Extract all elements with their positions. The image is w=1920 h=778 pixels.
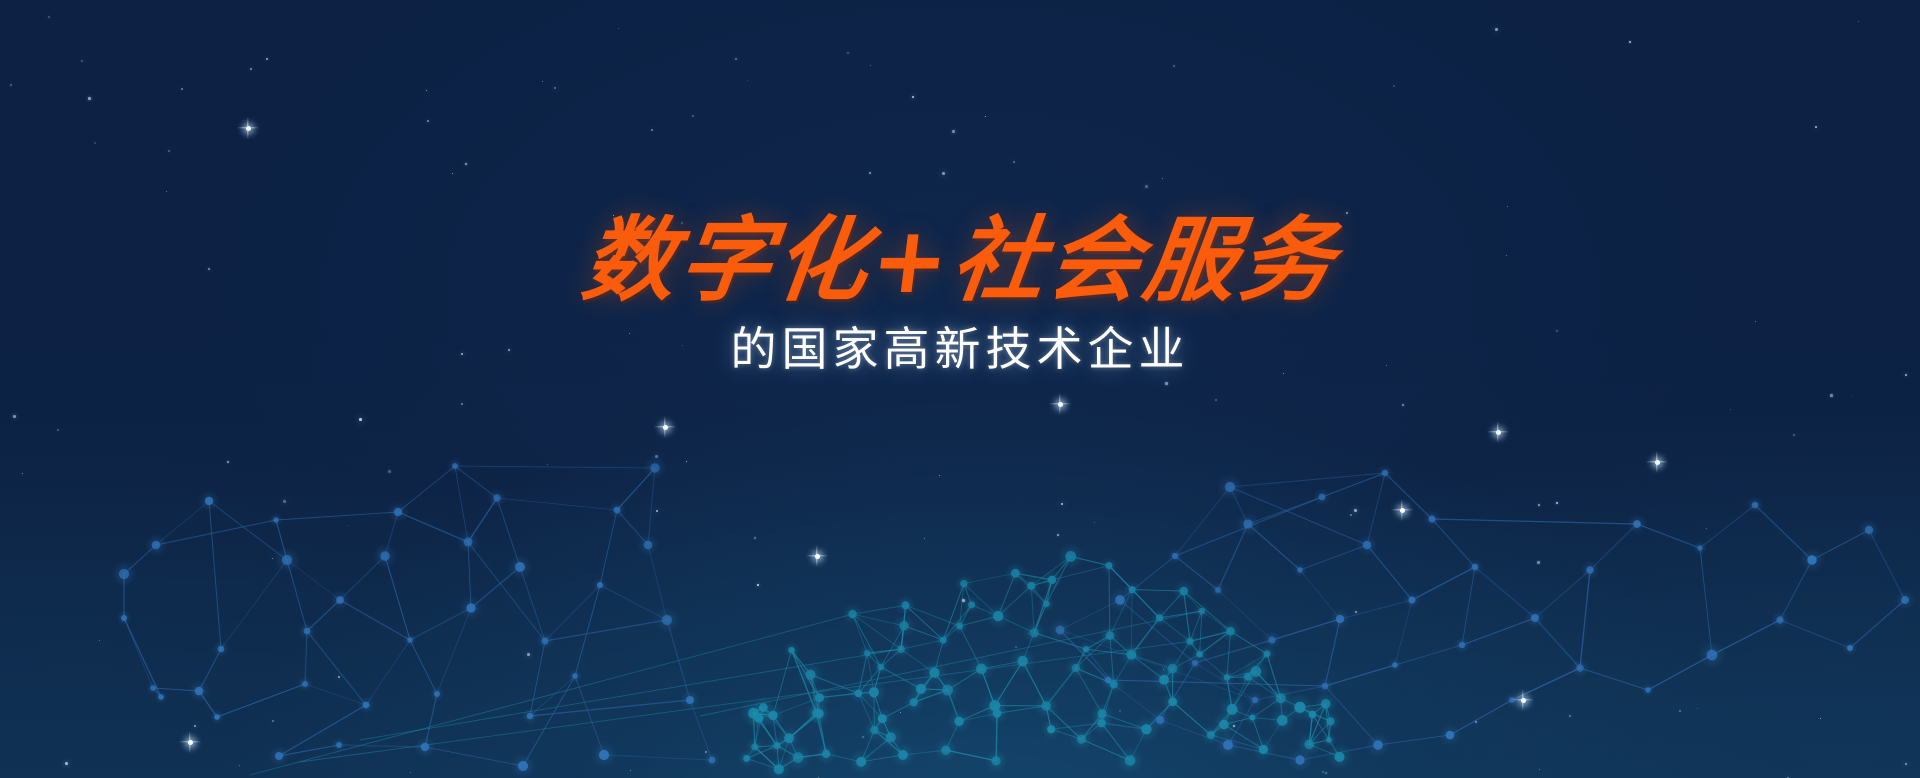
- network-node: [869, 687, 879, 697]
- network-node: [452, 463, 458, 469]
- network-edge: [1108, 680, 1325, 686]
- network-node: [1199, 608, 1206, 615]
- network-node: [960, 580, 967, 587]
- network-node: [421, 743, 430, 752]
- network-node: [1472, 564, 1479, 571]
- network-node: [1336, 615, 1344, 623]
- network-node: [1065, 551, 1076, 562]
- network-node: [886, 732, 896, 742]
- network-node: [1382, 470, 1388, 476]
- network-node: [1129, 586, 1136, 593]
- network-node: [1224, 674, 1231, 681]
- network-node: [336, 742, 342, 748]
- network-node: [218, 646, 225, 653]
- network-node: [1156, 614, 1163, 621]
- network-node: [1105, 562, 1112, 569]
- network-node: [434, 691, 440, 697]
- network-node: [1219, 720, 1229, 730]
- network-edge: [1580, 570, 1590, 668]
- banner-text-block: 数字化+社会服务 的国家高新技术企业: [0, 214, 1920, 377]
- network-node: [1047, 725, 1055, 733]
- network-edge: [1432, 519, 1475, 567]
- network-edge: [221, 560, 287, 649]
- network-node: [599, 750, 609, 760]
- network-edge: [1512, 668, 1580, 700]
- network-node: [1215, 587, 1221, 593]
- network-edge: [1475, 567, 1535, 618]
- network-node: [1030, 628, 1039, 637]
- network-node: [1225, 482, 1235, 492]
- network-node: [942, 685, 953, 696]
- network-node: [1446, 731, 1455, 740]
- network-node: [1334, 752, 1344, 762]
- network-right-cluster: [1048, 465, 1915, 772]
- network-node: [1159, 675, 1169, 685]
- network-node: [275, 752, 283, 760]
- network-node: [793, 752, 804, 763]
- network-node: [158, 694, 163, 699]
- network-node: [954, 717, 963, 726]
- network-edge: [545, 620, 667, 641]
- network-node: [597, 582, 603, 588]
- network-node: [899, 621, 908, 630]
- network-edge: [1637, 524, 1700, 548]
- network-node: [1072, 664, 1080, 672]
- network-node: [282, 555, 292, 565]
- network-node: [1268, 636, 1275, 643]
- network-node: [1322, 683, 1329, 690]
- network-node: [1776, 616, 1783, 623]
- network-edge: [1385, 473, 1432, 519]
- network-node: [976, 664, 987, 675]
- network-edge: [398, 466, 455, 512]
- network-node: [394, 508, 402, 516]
- network-node: [814, 709, 824, 719]
- network-node: [751, 743, 758, 750]
- network-edge: [1869, 530, 1905, 600]
- network-edge: [468, 542, 545, 641]
- network-node: [1752, 502, 1759, 509]
- network-node: [1297, 567, 1302, 572]
- network-edge: [307, 631, 366, 705]
- network-node: [1259, 745, 1268, 754]
- network-node: [1576, 664, 1583, 671]
- network-edge: [1700, 505, 1755, 548]
- network-node: [991, 756, 1000, 765]
- banner-subtitle: 的国家高新技术企业: [0, 322, 1920, 377]
- network-node: [1276, 693, 1286, 703]
- network-node: [806, 670, 816, 680]
- network-node: [515, 562, 525, 572]
- network-edge: [600, 510, 617, 585]
- network-edge: [1850, 600, 1905, 648]
- network-node: [1244, 673, 1252, 681]
- network-node: [1373, 740, 1382, 749]
- network-node: [1392, 662, 1397, 667]
- network-node: [302, 681, 308, 687]
- network-node: [1901, 596, 1909, 604]
- network-node: [856, 757, 866, 767]
- network-node: [1115, 595, 1125, 605]
- network-node: [929, 668, 939, 678]
- network-edge: [1322, 473, 1385, 497]
- network-node: [815, 693, 824, 702]
- network-node: [1168, 697, 1177, 706]
- network-node: [956, 623, 963, 630]
- network-node: [773, 742, 780, 749]
- network-node: [466, 603, 475, 612]
- network-node: [1295, 755, 1304, 764]
- network-left-cluster: [111, 456, 721, 778]
- network-node: [1697, 545, 1702, 550]
- network-node: [1409, 597, 1416, 604]
- network-node: [1110, 680, 1118, 688]
- network-node: [1304, 739, 1314, 749]
- network-edge: [209, 501, 221, 649]
- network-node: [336, 596, 344, 604]
- network-node: [1319, 494, 1326, 501]
- network-node: [1326, 717, 1334, 725]
- network-edge: [217, 684, 305, 717]
- network-node: [1509, 697, 1515, 703]
- network-edge: [305, 684, 366, 705]
- network-edge: [1780, 620, 1850, 648]
- network-node: [864, 650, 871, 657]
- network-node: [1847, 645, 1853, 651]
- network-edge: [1462, 567, 1475, 645]
- network-node: [273, 517, 278, 522]
- network-edge: [276, 512, 398, 520]
- network-node: [1586, 566, 1593, 573]
- network-graphic: [0, 0, 1920, 778]
- network-edge: [1230, 473, 1385, 487]
- network-node: [1243, 519, 1252, 528]
- network-edge: [455, 466, 655, 468]
- network-node: [1172, 553, 1178, 559]
- network-node: [518, 761, 528, 771]
- network-node: [968, 601, 975, 608]
- network-node: [1459, 642, 1465, 648]
- network-edge: [455, 466, 468, 542]
- network-node: [1083, 646, 1089, 652]
- network-node: [1531, 614, 1539, 622]
- network-node: [1186, 638, 1193, 645]
- network-edge: [1395, 600, 1412, 665]
- network-node: [542, 638, 549, 645]
- network-node: [527, 713, 534, 720]
- network-node: [941, 745, 950, 754]
- network-node: [1249, 715, 1255, 721]
- network-node: [1252, 697, 1258, 703]
- network-node: [662, 615, 672, 625]
- network-node: [1043, 601, 1049, 607]
- network-node: [572, 673, 578, 679]
- network-edge: [1535, 570, 1590, 618]
- network-node: [150, 685, 156, 691]
- network-node: [1277, 715, 1288, 726]
- network-node: [686, 696, 694, 704]
- network-edge: [497, 498, 617, 510]
- network-node: [940, 637, 947, 644]
- network-node: [1011, 569, 1020, 578]
- network-node: [205, 497, 213, 505]
- network-node: [1223, 740, 1233, 750]
- network-edge: [156, 520, 276, 545]
- network-node: [363, 702, 370, 709]
- network-node: [743, 755, 750, 762]
- network-node: [407, 637, 412, 642]
- network-node: [993, 611, 1003, 621]
- network-edge: [1580, 668, 1648, 690]
- network-edge: [1325, 665, 1395, 686]
- network-node: [1633, 520, 1641, 528]
- network-node: [1226, 627, 1235, 636]
- network-node: [1105, 631, 1114, 640]
- network-node: [788, 647, 795, 654]
- network-node: [1125, 755, 1136, 766]
- network-node: [784, 733, 794, 743]
- network-node: [119, 569, 129, 579]
- network-node: [214, 714, 220, 720]
- network-node: [380, 551, 390, 561]
- network-edge: [1395, 645, 1462, 665]
- network-edge: [1432, 519, 1637, 524]
- network-edge: [437, 608, 471, 694]
- network-edge: [604, 755, 712, 760]
- network-node: [1126, 650, 1136, 660]
- network-node: [1056, 626, 1065, 635]
- network-node: [1041, 701, 1051, 711]
- network-node: [870, 726, 878, 734]
- network-edge: [1462, 618, 1535, 645]
- network-node: [1179, 587, 1188, 596]
- network-node: [1363, 541, 1371, 549]
- network-node: [1294, 702, 1305, 713]
- network-node: [304, 628, 311, 635]
- network-node: [709, 757, 716, 764]
- network-node: [1326, 737, 1332, 743]
- network-node: [1077, 735, 1086, 744]
- network-node: [1807, 555, 1817, 565]
- network-node: [1017, 656, 1027, 666]
- network-node: [1097, 719, 1106, 728]
- network-node: [614, 507, 621, 514]
- network-node: [774, 764, 784, 774]
- network-node: [1263, 650, 1270, 657]
- network-node: [1865, 526, 1873, 534]
- network-node: [1048, 576, 1056, 584]
- network-edge: [530, 700, 690, 716]
- network-node: [121, 615, 127, 621]
- network-node: [910, 698, 918, 706]
- network-edge: [209, 501, 287, 560]
- network-node: [1645, 687, 1650, 692]
- network-edge: [1412, 567, 1475, 600]
- network-node: [993, 709, 1002, 718]
- network-node: [644, 541, 653, 550]
- hero-banner: 数字化+社会服务 的国家高新技术企业: [0, 0, 1920, 778]
- network-edge: [1367, 473, 1385, 545]
- network-node: [1321, 699, 1331, 709]
- network-edge: [575, 585, 600, 676]
- network-edge: [1340, 600, 1412, 619]
- network-node: [878, 664, 885, 671]
- network-node: [848, 610, 856, 618]
- network-node: [1207, 731, 1215, 739]
- network-edge: [410, 640, 437, 694]
- network-node: [768, 711, 777, 720]
- network-node: [822, 750, 830, 758]
- network-node: [898, 750, 908, 760]
- network-node: [1707, 650, 1718, 661]
- network-node: [650, 463, 659, 472]
- network-node: [1141, 724, 1151, 734]
- network-node: [1027, 582, 1035, 590]
- network-edge: [366, 640, 410, 705]
- network-edge: [425, 747, 523, 766]
- network-edge: [1700, 548, 1712, 655]
- network-node: [464, 538, 473, 547]
- network-node: [902, 601, 910, 609]
- network-node: [1196, 651, 1203, 658]
- network-node: [152, 541, 161, 550]
- network-node: [195, 687, 204, 696]
- network-node: [1429, 516, 1436, 523]
- banner-headline: 数字化+社会服务: [0, 214, 1920, 308]
- network-node: [493, 494, 500, 501]
- network-node: [897, 645, 905, 653]
